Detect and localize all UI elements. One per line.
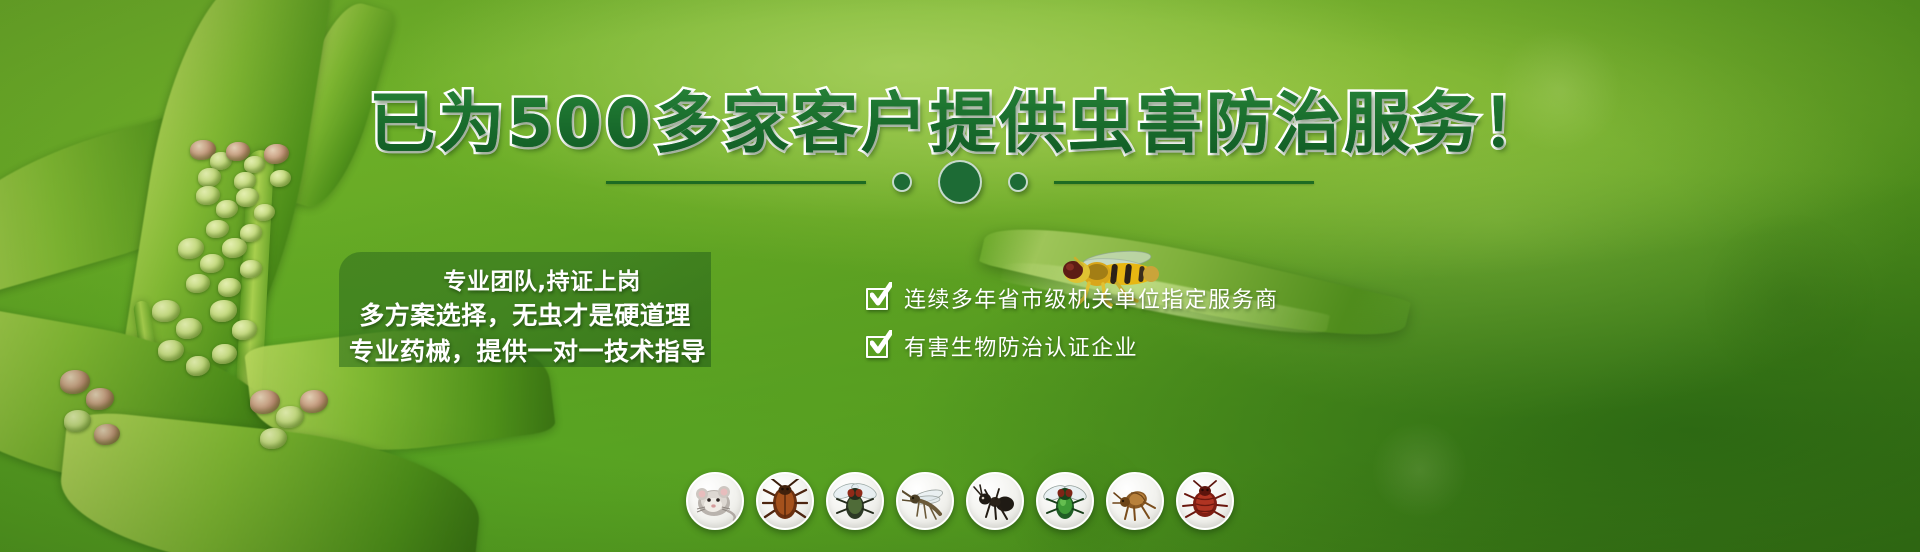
pest-icon-row: [0, 472, 1920, 530]
decoration-dot-large: [938, 160, 982, 204]
bedbug-icon[interactable]: [1176, 472, 1234, 530]
flea-icon[interactable]: [1106, 472, 1164, 530]
headline-wrapper: 已为500多家客户提供虫害防治服务！ 已为500多家客户提供虫害防治服务！: [0, 0, 1920, 110]
certification-text: 连续多年省市级机关单位指定服务商: [904, 282, 1278, 314]
promo-banner: 已为500多家客户提供虫害防治服务！ 已为500多家客户提供虫害防治服务！ 专业…: [0, 0, 1920, 552]
mosquito-icon[interactable]: [896, 472, 954, 530]
page-title: 已为500多家客户提供虫害防治服务！: [0, 70, 1920, 166]
ant-icon[interactable]: [966, 472, 1024, 530]
certification-list: 连续多年省市级机关单位指定服务商 有害生物防治认证企业: [866, 274, 1386, 370]
list-item: 连续多年省市级机关单位指定服务商: [866, 274, 1386, 322]
mouse-icon[interactable]: [686, 472, 744, 530]
list-item: 有害生物防治认证企业: [866, 322, 1386, 370]
decoration-dot-small-right: [1008, 172, 1028, 192]
certification-text: 有害生物防治认证企业: [904, 330, 1138, 362]
checkbox-checked-icon: [866, 334, 891, 359]
greenbottle-icon[interactable]: [1036, 472, 1094, 530]
decoration-line-left: [606, 181, 866, 184]
selling-point-line-2: 多方案选择，无虫才是硬道理: [349, 296, 697, 332]
decoration-dot-small-left: [892, 172, 912, 192]
selling-point-line-3: 专业药械，提供一对一技术指导: [349, 332, 697, 368]
cockroach-icon[interactable]: [756, 472, 814, 530]
housefly-icon[interactable]: [826, 472, 884, 530]
decoration-line-right: [1054, 181, 1314, 184]
decoration-row: [0, 162, 1920, 202]
checkbox-checked-icon: [866, 286, 891, 311]
selling-point-line-1: 专业团队,持证上岗: [349, 262, 697, 296]
selling-points-panel: 专业团队,持证上岗 多方案选择，无虫才是硬道理 专业药械，提供一对一技术指导: [339, 252, 711, 367]
